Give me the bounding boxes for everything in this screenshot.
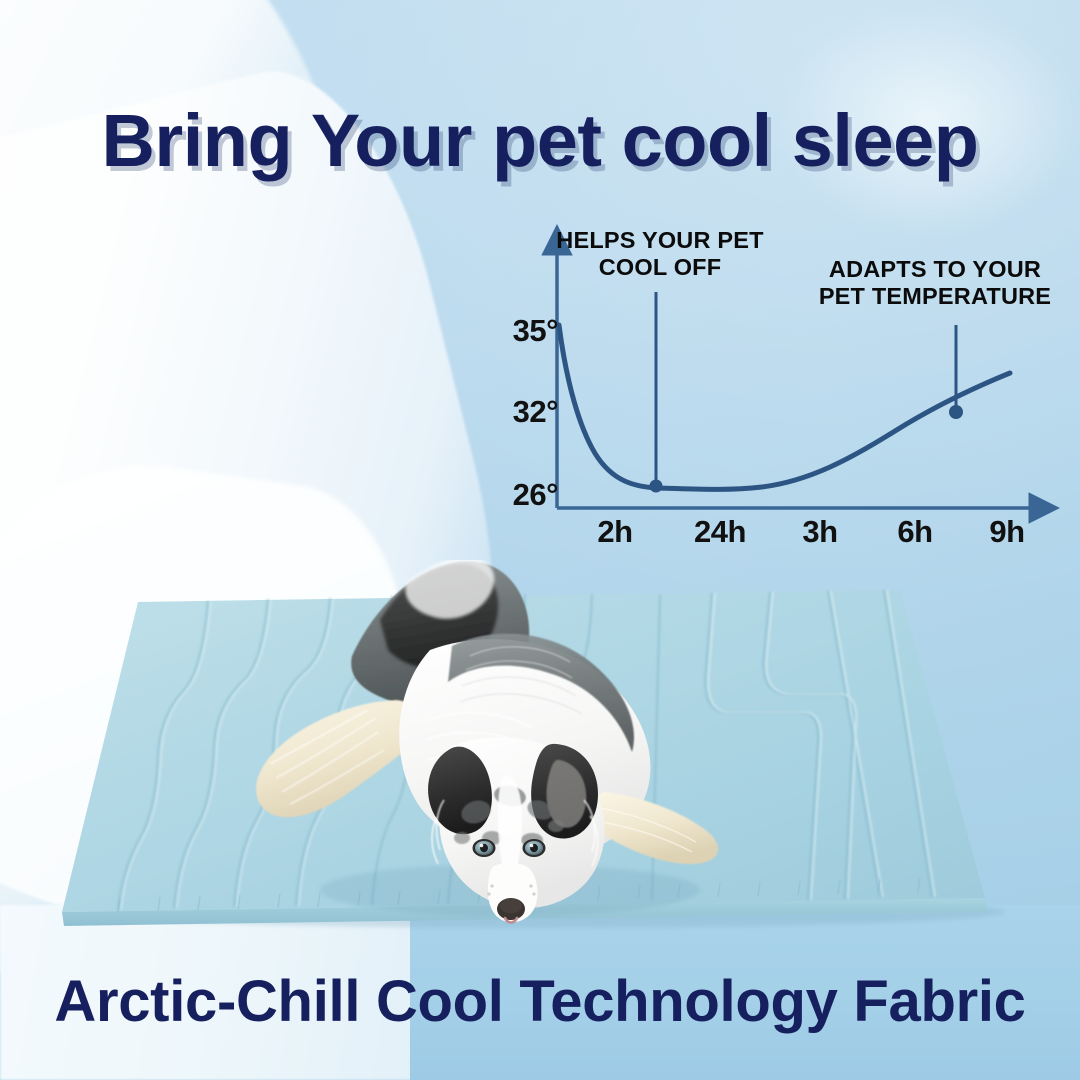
temperature-chart: HELPS YOUR PET COOL OFF ADAPTS TO YOUR P… [480, 222, 1080, 567]
chart-x-tick-2h: 2h [580, 514, 650, 550]
dog-left-eye-glint [480, 844, 484, 848]
dog-nose-highlight [500, 899, 522, 914]
footer-tagline: Arctic-Chill Cool Technology Fabric [0, 968, 1080, 1035]
chart-x-tick-6h: 6h [880, 514, 950, 550]
cooling-pet-mat[interactable] [0, 560, 1080, 940]
dog-right-eye-glint [530, 844, 534, 848]
page-title: Bring Your pet cool sleep [0, 98, 1080, 183]
chart-x-tick-labels: 2h 24h 3h 6h 9h [480, 222, 1080, 567]
chart-x-tick-3h: 3h [785, 514, 855, 550]
poster-canvas: Bring Your pet cool sleep HELPS YO [0, 0, 1080, 1080]
chart-x-tick-9h: 9h [972, 514, 1042, 550]
product-scene [0, 560, 1080, 940]
chart-x-tick-24h: 24h [675, 514, 765, 550]
